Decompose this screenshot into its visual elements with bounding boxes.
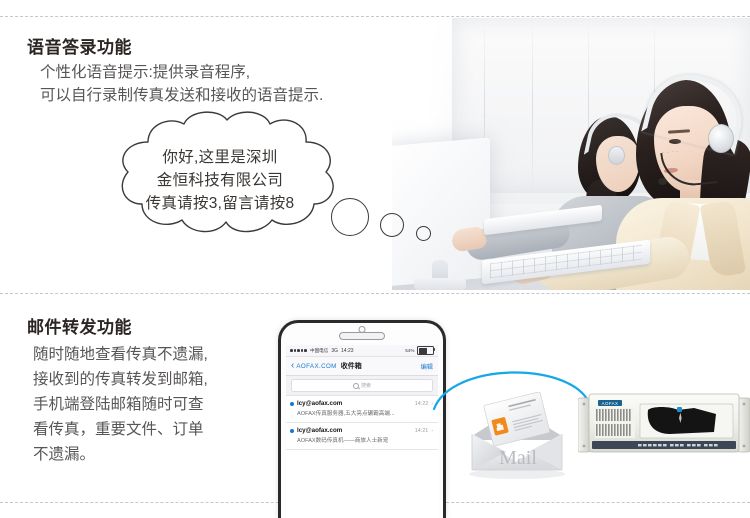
mail-timestamp: 14:21 <box>415 428 429 434</box>
chevron-left-icon[interactable]: ‹ <box>291 361 294 371</box>
section1-body: 个性化语音提示:提供录音程序, 可以自行录制传真发送和接收的语音提示. <box>40 61 323 107</box>
chevron-right-icon: › <box>431 428 433 434</box>
mail-timestamp: 14:22 <box>415 401 429 407</box>
section2-body: 随时随地查看传真不遗漏, 接收到的传真转发到邮箱, 手机端登陆邮箱随时可查 看传… <box>33 342 208 467</box>
mail-sender: lcy@aofax.com <box>297 427 342 434</box>
phone-status-bar: 中国电信 3G 14:23 54% <box>286 345 438 357</box>
divider-middle <box>0 293 750 294</box>
battery-icon <box>417 346 434 356</box>
fax-server-graphic: AOFAX <box>578 392 750 458</box>
unread-dot-icon <box>290 402 294 406</box>
search-placeholder: 搜索 <box>361 382 371 389</box>
section1-heading: 语音答录功能 <box>27 33 132 58</box>
carrier-label: 中国电信 <box>310 348 328 354</box>
unread-dot-icon <box>290 429 294 433</box>
network-type-label: 3G <box>331 348 338 354</box>
call-center-photo <box>392 18 750 290</box>
search-bar-container: 搜索 <box>286 376 438 396</box>
phone-mockup: 中国电信 3G 14:23 54% ‹ AOFAX.COM 收件箱 编辑 搜索 <box>278 320 446 518</box>
phone-nav-bar: ‹ AOFAX.COM 收件箱 编辑 <box>286 357 438 376</box>
section2-heading: 邮件转发功能 <box>27 313 132 338</box>
nav-back-label[interactable]: AOFAX.COM <box>296 363 336 370</box>
mail-list: lcy@aofax.com 14:22 › AOFAX传真服务器,五大亮点碾霸高… <box>286 396 438 450</box>
speech-bubble-text: 你好,这里是深圳 金恒科技有限公司 传真请按3,留言请按8 <box>108 146 332 215</box>
mail-envelope-graphic: Mail <box>458 392 576 480</box>
chevron-right-icon: › <box>431 401 433 407</box>
mail-sender: lcy@aofax.com <box>297 400 342 407</box>
mail-subject: AOFAX传真服务器,五大亮点碾霸高端... <box>297 409 433 417</box>
bubble-trail-dot-small <box>416 226 431 241</box>
search-icon <box>353 383 359 389</box>
nav-title: 收件箱 <box>341 361 362 371</box>
divider-top <box>0 16 750 17</box>
phone-screen: 中国电信 3G 14:23 54% ‹ AOFAX.COM 收件箱 编辑 搜索 <box>286 345 438 518</box>
envelope-label: Mail <box>499 447 537 469</box>
battery-percent-label: 54% <box>405 348 414 353</box>
earpiece-speaker-icon <box>339 332 385 340</box>
signal-strength-icon <box>290 349 307 352</box>
bubble-trail-dot-medium <box>380 213 404 237</box>
list-item[interactable]: lcy@aofax.com 14:22 › AOFAX传真服务器,五大亮点碾霸高… <box>286 396 438 423</box>
fax-brand-label: AOFAX <box>602 401 619 406</box>
status-clock: 14:23 <box>341 348 354 354</box>
edit-button[interactable]: 编辑 <box>421 362 433 371</box>
mail-subject: AOFAX数码传真机——商旅人士新宠 <box>297 436 433 444</box>
bubble-trail-dot-large <box>331 198 369 236</box>
search-input[interactable]: 搜索 <box>291 379 433 392</box>
list-item[interactable]: lcy@aofax.com 14:21 › AOFAX数码传真机——商旅人士新宠 <box>286 423 438 450</box>
product-feature-page: 语音答录功能 个性化语音提示:提供录音程序, 可以自行录制传真发送和接收的语音提… <box>0 0 750 515</box>
